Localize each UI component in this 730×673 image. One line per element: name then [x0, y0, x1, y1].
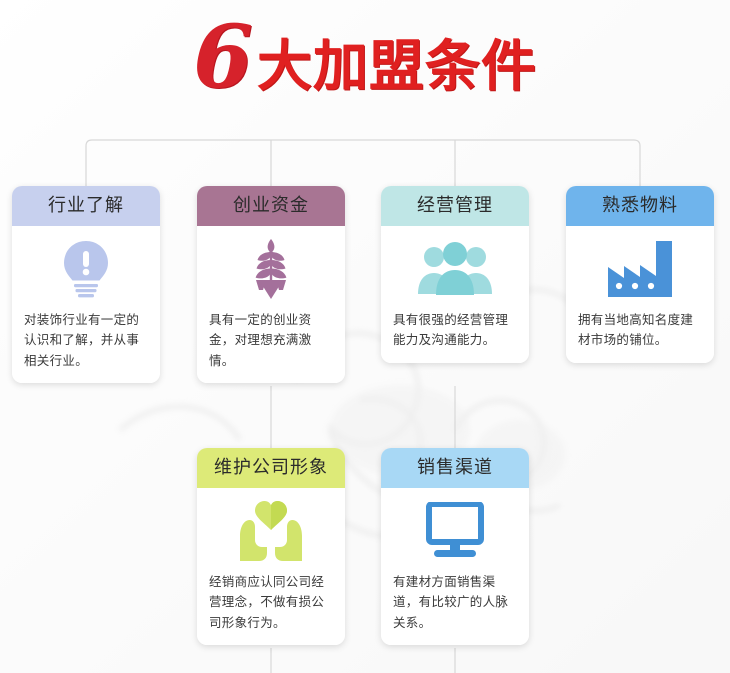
- title-text: 大加盟条件: [257, 39, 537, 94]
- card-header-material-familiarity: 熟悉物料: [566, 186, 714, 226]
- card-body-brand-image: 经销商应认同公司经营理念，不做有损公司形象行为。: [197, 494, 345, 645]
- card-text-business-management: 具有很强的经营管理能力及沟通能力。: [381, 306, 529, 351]
- title-number: 6: [193, 15, 251, 101]
- card-body-sales-channel: 有建材方面销售渠道，有比较广的人脉关系。: [381, 494, 529, 645]
- condition-card-startup-capital[interactable]: 创业资金: [197, 186, 345, 383]
- card-text-sales-channel: 有建材方面销售渠道，有比较广的人脉关系。: [381, 568, 529, 633]
- card-body-startup-capital: 具有一定的创业资金，对理想充满激情。: [197, 232, 345, 383]
- people-icon: [381, 232, 529, 306]
- card-text-industry-knowledge: 对装饰行业有一定的认识和了解，并从事相关行业。: [12, 306, 160, 371]
- card-header-startup-capital: 创业资金: [197, 186, 345, 226]
- card-header-brand-image: 维护公司形象: [197, 448, 345, 488]
- card-text-material-familiarity: 拥有当地高知名度建材市场的铺位。: [566, 306, 714, 351]
- condition-card-brand-image[interactable]: 维护公司形象 经销商应认同公司经营理念，不做有损公司形象行为。: [197, 448, 345, 645]
- heart-in-hands-icon: [197, 494, 345, 568]
- card-header-business-management: 经营管理: [381, 186, 529, 226]
- monitor-icon: [381, 494, 529, 568]
- card-text-startup-capital: 具有一定的创业资金，对理想充满激情。: [197, 306, 345, 371]
- card-body-business-management: 具有很强的经营管理能力及沟通能力。: [381, 232, 529, 363]
- card-body-material-familiarity: 拥有当地高知名度建材市场的铺位。: [566, 232, 714, 363]
- factory-icon: [566, 232, 714, 306]
- condition-card-industry-knowledge[interactable]: 行业了解 对装饰行业有一定的认识和了解，并从事相关行业。: [12, 186, 160, 383]
- card-header-sales-channel: 销售渠道: [381, 448, 529, 488]
- condition-card-business-management[interactable]: 经营管理 具有很强的经营管理能力及沟通能力。: [381, 186, 529, 363]
- condition-card-material-familiarity[interactable]: 熟悉物料 拥有当地高知名度建材市场的铺位。: [566, 186, 714, 363]
- page-title: 6 大加盟条件: [0, 14, 730, 110]
- card-body-industry-knowledge: 对装饰行业有一定的认识和了解，并从事相关行业。: [12, 232, 160, 383]
- card-text-brand-image: 经销商应认同公司经营理念，不做有损公司形象行为。: [197, 568, 345, 633]
- lightbulb-icon: [12, 232, 160, 306]
- card-header-industry-knowledge: 行业了解: [12, 186, 160, 226]
- wheat-icon: [197, 232, 345, 306]
- condition-card-sales-channel[interactable]: 销售渠道 有建材方面销售渠道，有比较广的人脉关系。: [381, 448, 529, 645]
